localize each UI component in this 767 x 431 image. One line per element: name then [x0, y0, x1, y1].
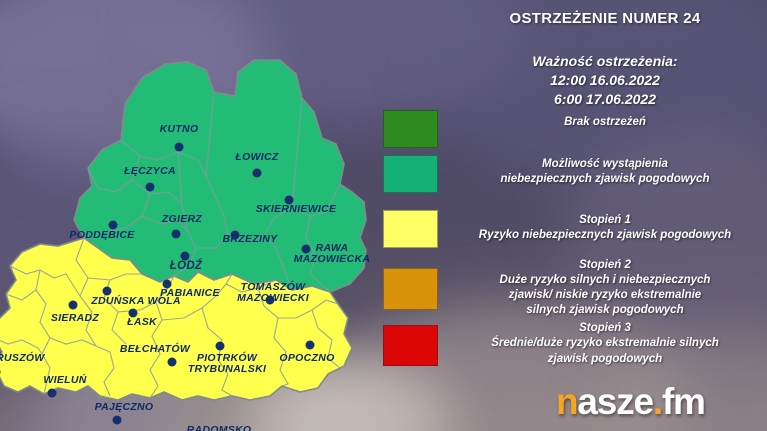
- legend-swatch: [383, 268, 438, 310]
- logo-part-asze: asze: [577, 381, 652, 422]
- legend-label: Brak ostrzeżeń: [443, 115, 767, 130]
- logo-part-fm: fm: [662, 381, 705, 422]
- legend-label: Stopień 1Ryzyko niebezpiecznych zjawisk …: [443, 213, 767, 244]
- legend-label: Możliwość wystąpienianiebezpiecznych zja…: [443, 157, 767, 188]
- legend-label: Stopień 2Duże ryzyko silnych i niebezpie…: [443, 258, 767, 319]
- legend-label: Stopień 3Średnie/duże ryzyko ekstremalni…: [443, 321, 767, 367]
- legend: Brak ostrzeżeńMożliwość wystąpienianiebe…: [0, 0, 767, 431]
- legend-swatch: [383, 155, 438, 193]
- legend-swatch: [383, 210, 438, 248]
- nasze-fm-logo: nasze.fm: [556, 383, 705, 420]
- legend-swatch: [383, 325, 438, 366]
- logo-dot: .: [653, 381, 662, 422]
- warning-graphic: KUTNOŁOWICZŁĘCZYCASKIERNIEWICEPODDĘBICEZ…: [0, 0, 767, 431]
- legend-swatch: [383, 110, 438, 148]
- logo-part-n: n: [556, 381, 577, 422]
